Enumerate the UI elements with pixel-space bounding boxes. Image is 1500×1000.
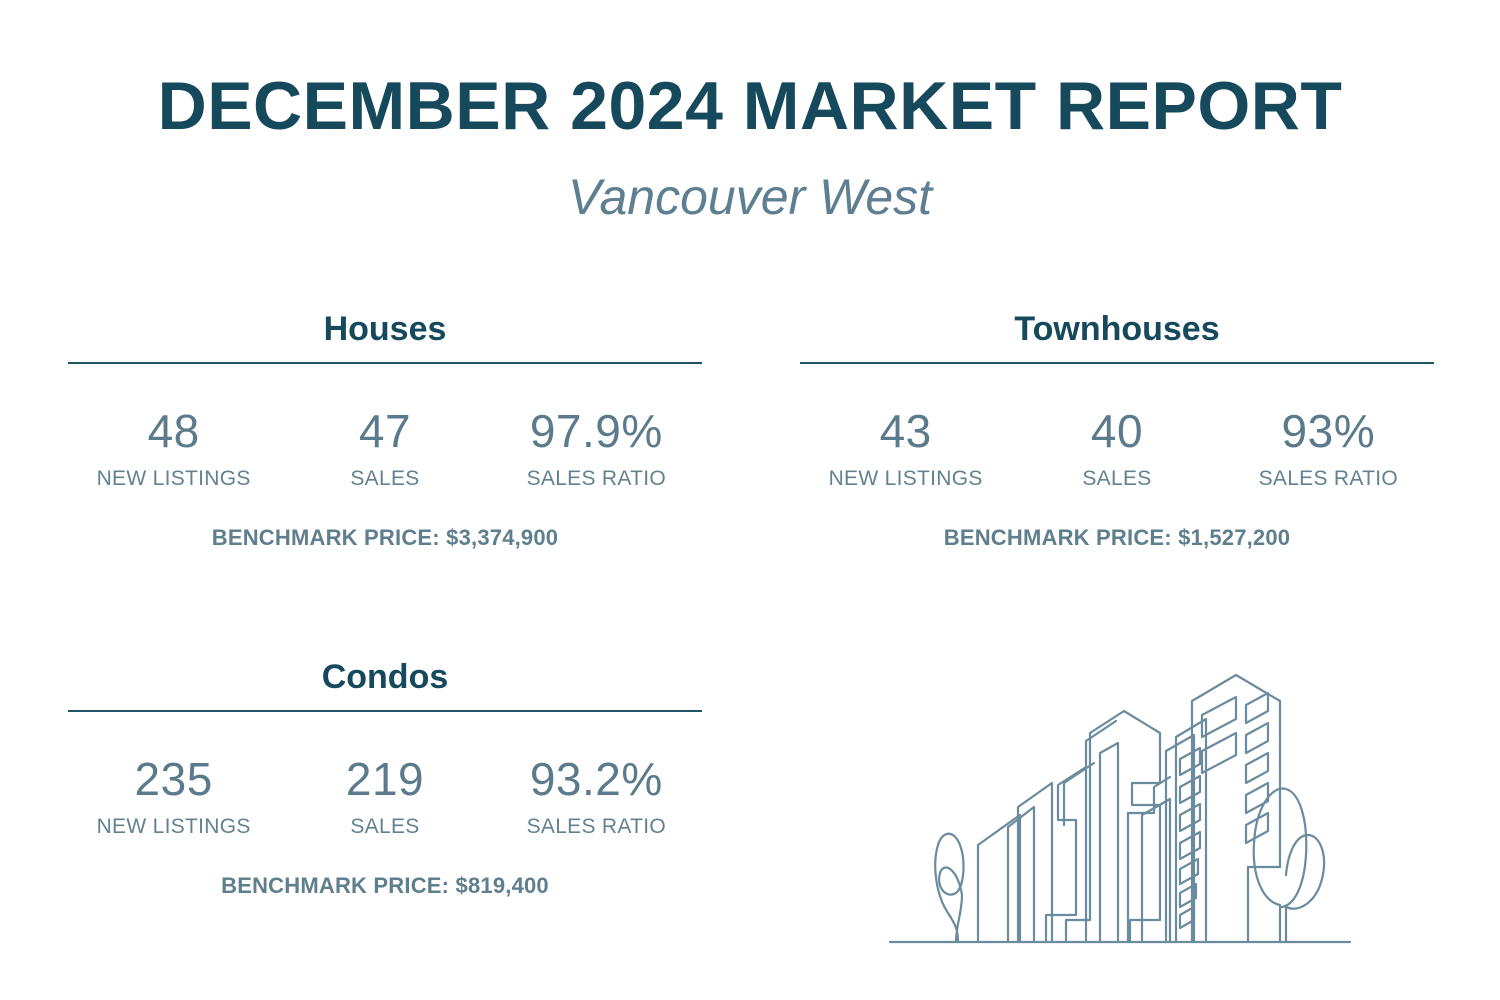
stat-sales: 40 SALES [1011,408,1222,489]
building-inner-tower [1100,743,1118,942]
section-townhouses: Townhouses 43 NEW LISTINGS 40 SALES 93% … [800,312,1434,549]
stat-new-listings: 48 NEW LISTINGS [68,408,279,489]
market-report-page: DECEMBER 2024 MARKET REPORT Vancouver We… [0,0,1500,1000]
stat-label: SALES [279,816,490,837]
section-heading-condos: Condos [68,660,702,710]
section-heading-houses: Houses [68,312,702,362]
stats-row-houses: 48 NEW LISTINGS 47 SALES 97.9% SALES RAT… [68,364,702,489]
stats-row-condos: 235 NEW LISTINGS 219 SALES 93.2% SALES R… [68,712,702,837]
stat-new-listings: 235 NEW LISTINGS [68,756,279,837]
stat-value: 93% [1223,408,1434,454]
stat-new-listings: 43 NEW LISTINGS [800,408,1011,489]
stat-label: SALES RATIO [1223,468,1434,489]
stats-row-townhouses: 43 NEW LISTINGS 40 SALES 93% SALES RATIO [800,364,1434,489]
stat-value: 93.2% [491,756,702,802]
stat-sales-ratio: 97.9% SALES RATIO [491,408,702,489]
stat-value: 235 [68,756,279,802]
building-windowed-mid [1142,719,1206,942]
window-column-left [1180,748,1200,928]
stat-value: 47 [279,408,490,454]
stat-value: 48 [68,408,279,454]
stat-label: SALES RATIO [491,816,702,837]
building-notched-center [1046,763,1094,942]
stat-sales-ratio: 93% SALES RATIO [1223,408,1434,489]
tree-right-icon [1254,789,1324,942]
stat-value: 97.9% [491,408,702,454]
stat-label: SALES [1011,468,1222,489]
building-slim-left [978,807,1034,942]
stat-label: NEW LISTINGS [68,468,279,489]
benchmark-price-houses: BENCHMARK PRICE: $3,374,900 [68,527,702,549]
city-skyline-illustration [880,655,1360,960]
stat-value: 43 [800,408,1011,454]
stat-label: SALES [279,468,490,489]
benchmark-price-townhouses: BENCHMARK PRICE: $1,527,200 [800,527,1434,549]
stat-value: 40 [1011,408,1222,454]
section-condos: Condos 235 NEW LISTINGS 219 SALES 93.2% … [68,660,702,897]
page-title: DECEMBER 2024 MARKET REPORT [0,72,1500,140]
benchmark-price-condos: BENCHMARK PRICE: $819,400 [68,875,702,897]
tree-left-icon [935,834,963,942]
section-heading-townhouses: Townhouses [800,312,1434,362]
section-houses: Houses 48 NEW LISTINGS 47 SALES 97.9% SA… [68,312,702,549]
stat-value: 219 [279,756,490,802]
page-subtitle: Vancouver West [0,172,1500,222]
stat-label: NEW LISTINGS [800,468,1011,489]
stat-label: SALES RATIO [491,468,702,489]
stat-sales: 47 SALES [279,408,490,489]
stat-label: NEW LISTINGS [68,816,279,837]
stat-sales: 219 SALES [279,756,490,837]
stat-sales-ratio: 93.2% SALES RATIO [491,756,702,837]
